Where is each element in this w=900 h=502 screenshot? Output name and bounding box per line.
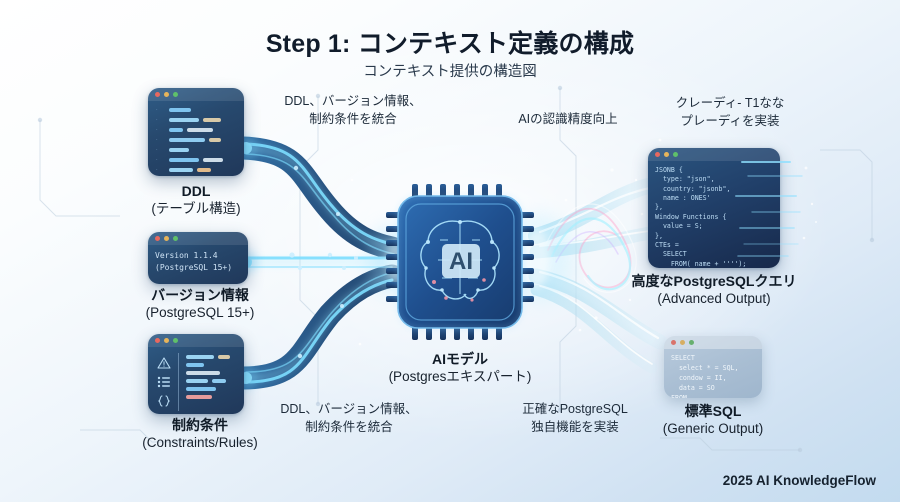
infographic-canvas: Step 1: コンテキスト定義の構成 コンテキスト提供の構造図 · · · ·… — [0, 0, 900, 502]
label-ai-model-main: AIモデル — [368, 350, 552, 368]
window-close-dot — [655, 152, 660, 157]
annotation-integrate-top: DDL、バージョン情報、 制約条件を統合 — [258, 92, 448, 128]
line-number: · — [156, 137, 165, 143]
page-subtitle: コンテキスト提供の構造図 — [0, 60, 900, 81]
label-ddl-sub: (テーブル構造) — [128, 200, 264, 218]
list-icon — [157, 376, 171, 388]
window-close-dot — [671, 340, 676, 345]
warning-triangle-icon — [157, 357, 171, 369]
advanced-code-text: JSONB { type: "json", country: "jsonb", … — [655, 166, 773, 268]
card-titlebar — [148, 88, 244, 101]
line-number: · — [156, 167, 165, 173]
card-version[interactable]: Version 1.1.4 (PostgreSQL 15+) — [148, 232, 248, 284]
label-advanced-sub: (Advanced Output) — [608, 290, 820, 308]
line-number: · — [156, 147, 165, 153]
annotation-line-2: 制約条件を統合 — [254, 418, 444, 436]
window-maximize-dot — [173, 338, 178, 343]
card-advanced-output[interactable]: JSONB { type: "json", country: "jsonb", … — [648, 148, 780, 268]
advanced-code-body: JSONB { type: "json", country: "jsonb", … — [648, 161, 780, 268]
card-titlebar — [648, 148, 780, 161]
annotation-pg-features: 正確なPostgreSQL 独自機能を実装 — [494, 400, 656, 436]
generic-code-body: SELECT select * = SQL, condow = II, data… — [664, 349, 762, 398]
label-ai-model-sub: (Postgresエキスパート) — [368, 368, 552, 386]
constraints-code-tokens — [186, 353, 238, 411]
ai-chip[interactable]: AI — [384, 182, 536, 342]
line-number: · — [156, 107, 165, 113]
annotation-integrate-bottom: DDL、バージョン情報、 制約条件を統合 — [254, 400, 444, 436]
label-constraints-sub: (Constraints/Rules) — [108, 434, 292, 452]
line-number: · — [156, 117, 165, 123]
window-maximize-dot — [173, 92, 178, 97]
annotation-line-1: 正確なPostgreSQL — [494, 400, 656, 418]
window-minimize-dot — [164, 92, 169, 97]
label-advanced-output: 高度なPostgreSQLクエリ (Advanced Output) — [608, 272, 820, 308]
annotation-line-2: プレーディを実装 — [642, 112, 818, 130]
label-ddl-main: DDL — [128, 182, 264, 200]
label-version: バージョン情報 (PostgreSQL 15+) — [112, 286, 288, 322]
window-maximize-dot — [689, 340, 694, 345]
window-close-dot — [155, 338, 160, 343]
window-minimize-dot — [664, 152, 669, 157]
page-title: Step 1: コンテキスト定義の構成 — [0, 24, 900, 60]
window-minimize-dot — [164, 236, 169, 241]
label-generic-main: 標準SQL — [638, 402, 788, 420]
label-advanced-main: 高度なPostgreSQLクエリ — [608, 272, 820, 290]
label-version-sub: (PostgreSQL 15+) — [112, 304, 288, 322]
window-minimize-dot — [164, 338, 169, 343]
window-close-dot — [155, 236, 160, 241]
annotation-advanced-impl: クレーディ- Т1なな プレーディを実装 — [642, 94, 818, 130]
card-titlebar — [148, 232, 248, 245]
line-number: · — [156, 127, 165, 133]
line-number: · — [156, 157, 165, 163]
chip-ai-text: AI — [449, 248, 473, 275]
card-titlebar — [148, 334, 244, 347]
annotation-line-1: クレーディ- Т1なな — [642, 94, 818, 112]
annotation-line-2: 独自機能を実装 — [494, 418, 656, 436]
version-code-body: Version 1.1.4 (PostgreSQL 15+) — [148, 245, 248, 278]
card-ddl[interactable]: · · · · · · · · — [148, 88, 244, 176]
label-ai-model: AIモデル (Postgresエキスパート) — [368, 350, 552, 386]
constraints-body — [148, 347, 244, 414]
version-code-line-2: (PostgreSQL 15+) — [155, 262, 241, 274]
annotation-line-2: 制約条件を統合 — [258, 110, 448, 128]
footer-credit: 2025 AI KnowledgeFlow — [723, 473, 876, 488]
constraints-icon-gutter — [154, 353, 179, 411]
label-generic-output: 標準SQL (Generic Output) — [638, 402, 788, 438]
card-generic-output[interactable]: SELECT select * = SQL, condow = II, data… — [664, 336, 762, 398]
card-constraints[interactable] — [148, 334, 244, 414]
label-generic-sub: (Generic Output) — [638, 420, 788, 438]
card-titlebar — [664, 336, 762, 349]
generic-code-text: SELECT select * = SQL, condow = II, data… — [671, 354, 755, 398]
window-close-dot — [155, 92, 160, 97]
annotation-ai-accuracy: AIの認識精度向上 — [492, 110, 644, 128]
annotation-line-1: DDL、バージョン情報、 — [254, 400, 444, 418]
window-maximize-dot — [173, 236, 178, 241]
braces-icon — [157, 395, 171, 407]
window-minimize-dot — [680, 340, 685, 345]
label-version-main: バージョン情報 — [112, 286, 288, 304]
annotation-line-1: AIの認識精度向上 — [492, 110, 644, 128]
ddl-code-body: · · · · · · · · — [148, 101, 244, 176]
version-code-line-1: Version 1.1.4 — [155, 250, 241, 262]
label-ddl: DDL (テーブル構造) — [128, 182, 264, 218]
annotation-line-1: DDL、バージョン情報、 — [258, 92, 448, 110]
window-maximize-dot — [673, 152, 678, 157]
